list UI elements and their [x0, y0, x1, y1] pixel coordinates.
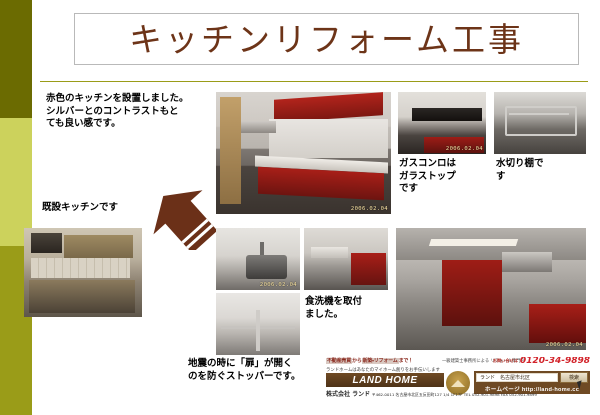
photo-timestamp: 2006.02.04 — [351, 206, 388, 212]
photo-detail-old-cabinet — [64, 235, 132, 258]
photo-detail-old-hood — [31, 233, 62, 253]
photo-timestamp: 2006.02.04 — [546, 342, 583, 348]
company-address: 〒462-0011 名古屋市北区五反田町127 1/4 1F17F TEL 05… — [372, 392, 537, 397]
photo-detail-range-hood — [241, 121, 276, 133]
photo-detail-rack — [505, 106, 577, 136]
photo-detail-dishwasher-front — [351, 253, 386, 285]
transition-arrow-icon — [147, 188, 221, 250]
title-divider — [40, 81, 588, 82]
photo-detail-rack-bar — [509, 113, 570, 115]
footer-tagline: 不動産売買から新築・リフォームまで！ — [326, 357, 413, 364]
photo-detail-wide-hood — [502, 252, 551, 272]
photo-detail-red-base-cabinet — [258, 167, 384, 200]
slide-title-box: キッチンリフォーム工事 — [74, 13, 579, 65]
company-footer-banner: 不動産売買から新築・リフォームまで！ 一級建築士事務所による リフォーム専門店 … — [326, 357, 590, 403]
caption-existing-kitchen: 既設キッチンです — [42, 202, 162, 215]
search-button-label: 検索 — [569, 374, 579, 381]
stripe-segment-top — [0, 0, 32, 118]
photo-kitchen-wide: 2006.02.04 — [396, 228, 586, 350]
photo-detail-glass-top — [412, 108, 482, 120]
search-bar[interactable]: ランド 名古屋市北区 検索 — [474, 371, 590, 383]
photo-door-stopper — [216, 293, 300, 355]
caption-door-stopper: 地震の時に「扉」が開く のを防ぐストッパーです。 — [188, 358, 338, 383]
brand-logo-text: LAND HOME — [352, 375, 417, 386]
stripe-edge — [32, 0, 35, 415]
house-roof-icon — [451, 380, 465, 387]
search-input[interactable]: ランド 名古屋市北区 — [476, 373, 558, 382]
footer-tagline-part-c: 新築・リフォーム — [362, 358, 399, 364]
caption-gas-stove: ガスコンロは ガラストップ です — [399, 158, 491, 196]
photo-detail-dishwasher-panel — [311, 247, 348, 258]
photo-detail-ceiling-light — [429, 239, 519, 246]
photo-existing-kitchen — [24, 228, 142, 317]
caption-drain-shelf: 水切り棚で す — [496, 158, 588, 183]
photo-detail-stopper-bar — [256, 310, 259, 351]
footer-tagline-part-b: から — [352, 358, 362, 364]
footer-tagline-part-a: 不動産売買 — [326, 358, 352, 364]
left-decorative-stripe — [0, 0, 32, 415]
photo-dishwasher — [304, 228, 388, 290]
page-title: キッチンリフォーム工事 — [129, 23, 524, 56]
footer-phone-number: 0120-34-9898 — [520, 357, 590, 366]
search-button[interactable]: 検索 — [560, 372, 588, 383]
photo-detail-basin — [246, 255, 286, 279]
photo-detail-wood-panel — [220, 97, 241, 204]
search-input-value: ランド 名古屋市北区 — [480, 374, 530, 381]
company-address-line: 株式会社 ランド 〒462-0011 名古屋市北区五反田町127 1/4 1F1… — [326, 389, 537, 398]
stripe-segment-middle — [0, 118, 32, 246]
photo-detail-old-base — [29, 280, 135, 314]
photo-new-kitchen-main: 2006.02.04 — [216, 92, 391, 214]
photo-gas-stove: 2006.02.04 — [398, 92, 486, 154]
footer-tagline-part-d: まで！ — [399, 358, 413, 364]
photo-sink: 2006.02.04 — [216, 228, 300, 290]
footer-phone: お問い合せは0120-34-9898 — [493, 357, 590, 366]
photo-detail-wall — [269, 119, 388, 158]
footer-tagline-row: 不動産売買から新築・リフォームまで！ 一級建築士事務所による リフォーム専門店 … — [326, 357, 590, 366]
photo-drain-shelf — [494, 92, 586, 154]
footer-phone-label: お問い合せは — [493, 358, 518, 363]
photo-detail-wide-red-cabinet — [442, 260, 503, 326]
caption-intro: 赤色のキッチンを設置しました。 シルバーとのコントラストもと ても良い感です。 — [46, 93, 216, 131]
company-name: 株式会社 ランド — [326, 391, 370, 398]
photo-timestamp: 2006.02.04 — [260, 282, 297, 288]
photo-detail-wide-red-base — [529, 304, 586, 343]
photo-timestamp: 2006.02.04 — [446, 146, 483, 152]
photo-detail-old-tile — [31, 258, 130, 278]
brand-logo: LAND HOME — [326, 373, 444, 387]
